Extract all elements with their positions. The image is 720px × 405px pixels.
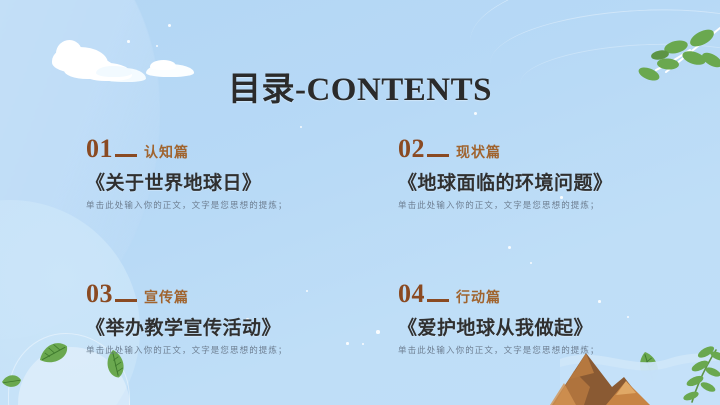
- contents-item-02[interactable]: 02 现状篇 《地球面临的环境问题》 单击此处输入你的正文，文字是您思想的提炼；: [398, 136, 646, 211]
- dash-icon: [427, 154, 449, 157]
- contents-item-tag: 现状篇: [456, 147, 501, 161]
- sparkle-dot: [300, 126, 302, 128]
- dash-icon: [115, 154, 137, 157]
- contents-item-header: 04 行动篇: [398, 281, 646, 307]
- page-title: 目录-CONTENTS: [0, 62, 720, 110]
- contents-item-number: 01: [86, 136, 113, 162]
- contents-item-number: 04: [398, 281, 425, 307]
- contents-item-title: 《举办教学宣传活动》: [86, 313, 398, 340]
- contents-item-description: 单击此处输入你的正文，文字是您思想的提炼；: [398, 199, 646, 211]
- contents-item-header: 03 宣传篇: [86, 281, 398, 307]
- sparkle-dot: [168, 24, 171, 27]
- dash-icon: [427, 299, 449, 302]
- contents-item-number: 03: [86, 281, 113, 307]
- contents-item-title: 《爱护地球从我做起》: [398, 313, 646, 340]
- contents-item-description: 单击此处输入你的正文，文字是您思想的提炼；: [86, 344, 398, 356]
- contents-item-header: 02 现状篇: [398, 136, 646, 162]
- dash-icon: [115, 299, 137, 302]
- contents-item-title: 《关于世界地球日》: [86, 168, 398, 195]
- contents-item-title: 《地球面临的环境问题》: [398, 168, 646, 195]
- contents-item-header: 01 认知篇: [86, 136, 398, 162]
- sparkle-dot: [127, 40, 130, 43]
- contents-item-number: 02: [398, 136, 425, 162]
- contents-item-tag: 宣传篇: [144, 292, 189, 306]
- sparkle-dot: [474, 112, 477, 115]
- contents-item-tag: 行动篇: [456, 292, 501, 306]
- contents-grid: 01 认知篇 《关于世界地球日》 单击此处输入你的正文，文字是您思想的提炼； 0…: [86, 136, 646, 356]
- contents-item-01[interactable]: 01 认知篇 《关于世界地球日》 单击此处输入你的正文，文字是您思想的提炼；: [86, 136, 398, 211]
- slide-canvas: 目录-CONTENTS 01 认知篇 《关于世界地球日》 单击此处输入你的正文，…: [0, 0, 720, 405]
- contents-item-description: 单击此处输入你的正文，文字是您思想的提炼；: [398, 344, 646, 356]
- sparkle-dot: [156, 45, 158, 47]
- contents-item-tag: 认知篇: [144, 147, 189, 161]
- cloud-icon: [56, 40, 82, 62]
- contents-item-04[interactable]: 04 行动篇 《爱护地球从我做起》 单击此处输入你的正文，文字是您思想的提炼；: [398, 281, 646, 356]
- contents-item-description: 单击此处输入你的正文，文字是您思想的提炼；: [86, 199, 398, 211]
- contents-item-03[interactable]: 03 宣传篇 《举办教学宣传活动》 单击此处输入你的正文，文字是您思想的提炼；: [86, 281, 398, 356]
